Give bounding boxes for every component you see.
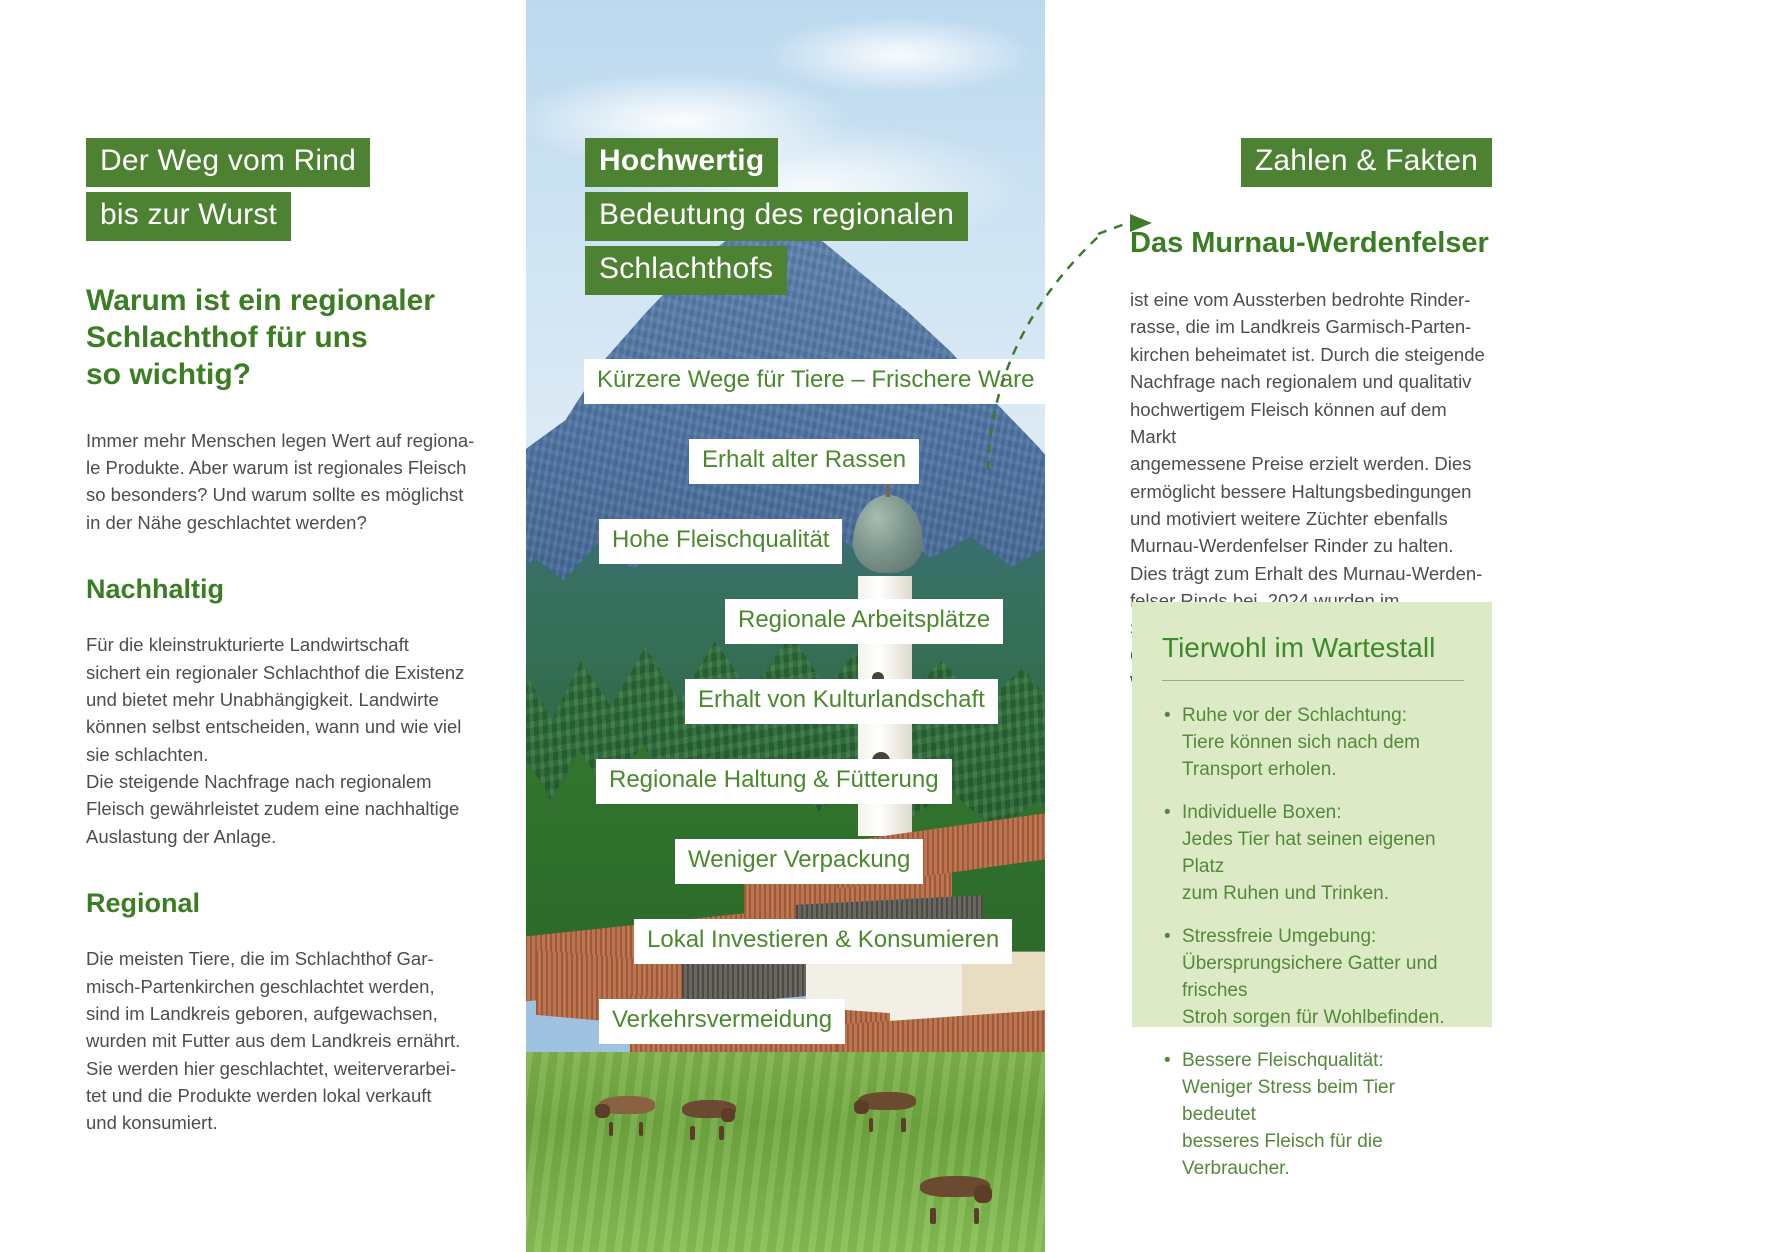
left-intro-paragraph: Immer mehr Menschen legen Wert auf regio…	[86, 427, 476, 537]
benefit-label-regionale-haltung: Regionale Haltung & Fütterung	[596, 759, 952, 804]
benefit-label-erhalt-kulturlandschaft: Erhalt von Kulturlandschaft	[685, 679, 998, 724]
left-subheading-regional: Regional	[86, 888, 476, 919]
infobox-bullet-fleischqualitaet: Bessere Fleischqualität: Weniger Stress …	[1162, 1048, 1464, 1183]
cow	[682, 1100, 736, 1130]
benefit-label-erhalt-alter-rassen: Erhalt alter Rassen	[689, 439, 919, 484]
infobox-bullet-boxen: Individuelle Boxen: Jedes Tier hat seine…	[1162, 800, 1464, 908]
benefit-label-verkehrsvermeidung: Verkehrsvermeidung	[599, 999, 845, 1044]
benefit-label-kuerzere-wege: Kürzere Wege für Tiere – Frischere Ware	[584, 359, 1045, 404]
center-title-bars: Hochwertig Bedeutung des regionalen Schl…	[585, 138, 968, 295]
right-title-zahlen-fakten: Zahlen & Fakten	[1241, 138, 1492, 187]
cow	[858, 1092, 916, 1122]
center-title-line-3: Schlachthofs	[585, 246, 787, 295]
benefit-label-lokal-investieren: Lokal Investieren & Konsumieren	[634, 919, 1012, 964]
right-heading-murnau-werdenfelser: Das Murnau-Werdenfelser	[1130, 227, 1492, 260]
benefit-label-weniger-verpackung: Weniger Verpackung	[675, 839, 923, 884]
brochure-page: Der Weg vom Rind bis zur Wurst Warum ist…	[0, 0, 1766, 1252]
tierwohl-infobox: Tierwohl im Wartestall Ruhe vor der Schl…	[1132, 602, 1492, 1027]
center-title-line-2: Bedeutung des regionalen	[585, 192, 968, 241]
infobox-divider	[1162, 680, 1464, 681]
meadow	[526, 1052, 1045, 1252]
infobox-title: Tierwohl im Wartestall	[1162, 632, 1464, 664]
left-body-regional: Die meisten Tiere, die im Schlachthof Ga…	[86, 945, 476, 1137]
benefit-label-hohe-fleischqualitaet: Hohe Fleischqualität	[599, 519, 842, 564]
right-title-bars: Zahlen & Fakten	[1130, 138, 1492, 187]
left-title-line-2: bis zur Wurst	[86, 192, 291, 241]
benefit-label-regionale-arbeitsplaetze: Regionale Arbeitsplätze	[725, 599, 1003, 644]
left-title-bars: Der Weg vom Rind bis zur Wurst	[86, 138, 476, 241]
left-subheading-nachhaltig: Nachhaltig	[86, 574, 476, 605]
center-title-line-1: Hochwertig	[585, 138, 778, 187]
cow	[599, 1096, 655, 1126]
infobox-bullet-umgebung: Stressfreie Umgebung: Übersprungsichere …	[1162, 924, 1464, 1032]
infobox-bullet-ruhe: Ruhe vor der Schlachtung: Tiere können s…	[1162, 703, 1464, 784]
center-photo: Hochwertig Bedeutung des regionalen Schl…	[526, 0, 1045, 1252]
left-title-line-1: Der Weg vom Rind	[86, 138, 370, 187]
cow	[920, 1176, 990, 1212]
left-section-heading: Warum ist ein regionaler Schlachthof für…	[86, 283, 476, 394]
left-body-nachhaltig: Für die kleinstrukturierte Landwirtschaf…	[86, 631, 476, 850]
infobox-bullet-list: Ruhe vor der Schlachtung: Tiere können s…	[1162, 703, 1464, 1183]
left-column: Der Weg vom Rind bis zur Wurst Warum ist…	[86, 138, 476, 1175]
